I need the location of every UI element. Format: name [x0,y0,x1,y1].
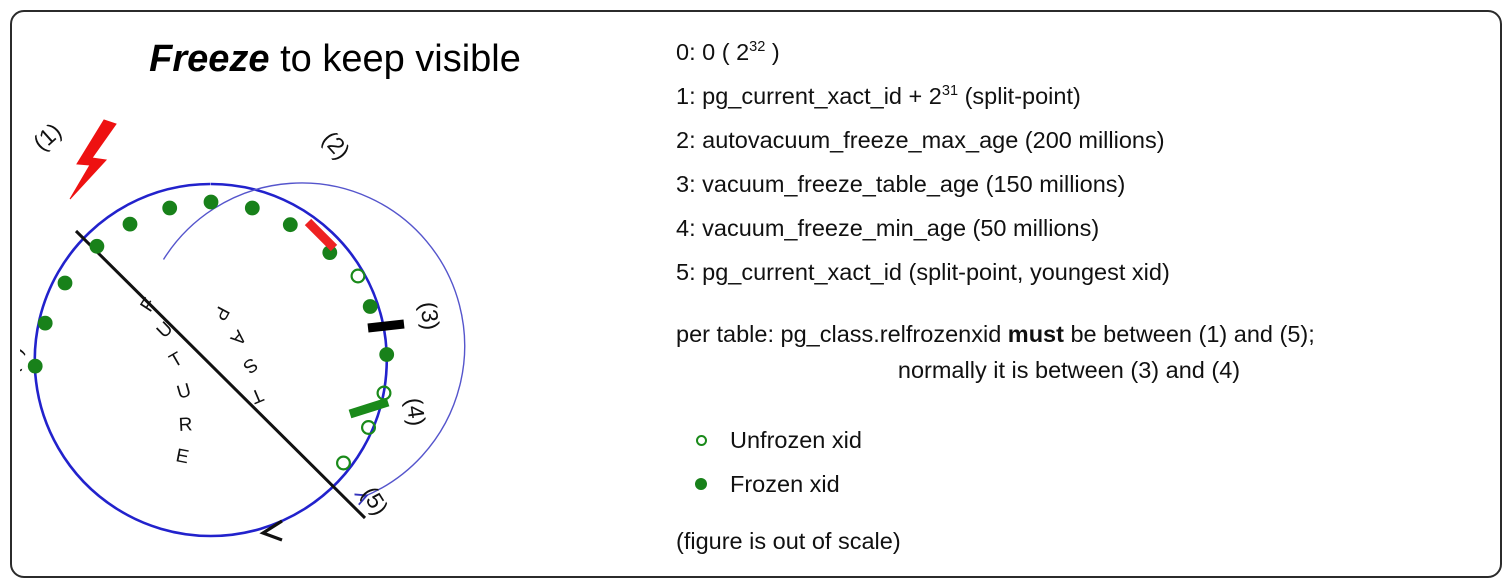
frozen-xid-dot [38,316,53,331]
point-label-2: (2) [317,126,355,164]
legend-label-unfrozen: Unfrozen xid [730,427,862,454]
frozen-xid-dot [283,217,298,232]
frozen-xid-dots [28,195,394,374]
reference-item-4: 4: vacuum_freeze_min_age (50 millions) [676,206,1486,250]
svg-text:U: U [175,380,194,404]
freeze-diagram-figure: Freeze to keep visible P A [0,0,1512,588]
point-label-3: (3) [415,300,445,331]
frozen-xid-dot [123,217,138,232]
reference-item-3: 3: vacuum_freeze_table_age (150 millions… [676,162,1486,206]
svg-text:E: E [174,445,190,468]
reference-panel: 0: 0 ( 232 ) 1: pg_current_xact_id + 231… [676,30,1486,550]
tick-marker-4 [350,402,388,414]
svg-text:U: U [153,318,177,343]
svg-text:S: S [239,353,262,377]
diagram-panel: Freeze to keep visible P A [20,18,650,570]
reference-item-1: 1: pg_current_xact_id + 231 (split-point… [676,74,1486,118]
reference-item-2: 2: autovacuum_freeze_max_age (200 millio… [676,118,1486,162]
future-label: F U T U R E [137,295,194,469]
relfrozenxid-note-line-1: per table: pg_class.relfrozenxid must be… [676,316,1486,352]
reference-item-5: 5: pg_current_xact_id (split-point, youn… [676,250,1486,294]
legend-item-frozen: Frozen xid [676,462,1486,506]
legend: Unfrozen xid Frozen xid [676,418,1486,506]
svg-text:A: A [226,326,250,350]
frozen-xid-dot [204,195,219,210]
legend-item-unfrozen: Unfrozen xid [676,418,1486,462]
title-rest: to keep visible [270,38,521,80]
svg-text:T: T [166,348,187,372]
legend-label-frozen: Frozen xid [730,471,840,498]
scale-disclaimer: (figure is out of scale) [676,528,1486,555]
xid-wraparound-diagram: P A S T F U T U R E [20,100,650,560]
frozen-xid-dot [363,299,378,314]
svg-text:P: P [209,303,233,324]
xid-space-circle [35,184,387,536]
frozen-xid-dot [245,201,260,216]
frozen-xid-dot [28,359,43,374]
page-title: Freeze to keep visible [20,38,650,81]
frozen-xid-dot [162,201,177,216]
frozen-xid-dot [379,347,394,362]
point-label-0: (0) [20,343,27,376]
svg-text:R: R [178,414,193,436]
tick-marker-3 [368,324,404,328]
unfrozen-xid-dots [337,270,390,470]
unfrozen-xid-dot [337,457,350,470]
split-point-line [76,231,365,518]
frozen-xid-dot [90,239,105,254]
point-label-1: (1) [28,118,66,156]
relfrozenxid-note-line-2: normally it is between (3) and (4) [676,352,1486,388]
unfrozen-xid-dot [352,270,365,283]
title-emphasis: Freeze [149,38,269,80]
point-label-4: (4) [401,396,431,427]
frozen-xid-marker-icon [690,478,712,490]
tick-marker-2 [308,222,334,248]
reference-item-0: 0: 0 ( 232 ) [676,30,1486,74]
lightning-bolt-icon [70,120,116,199]
unfrozen-xid-marker-icon [690,435,712,446]
relfrozenxid-note: per table: pg_class.relfrozenxid must be… [676,316,1486,388]
frozen-xid-dot [58,276,73,291]
